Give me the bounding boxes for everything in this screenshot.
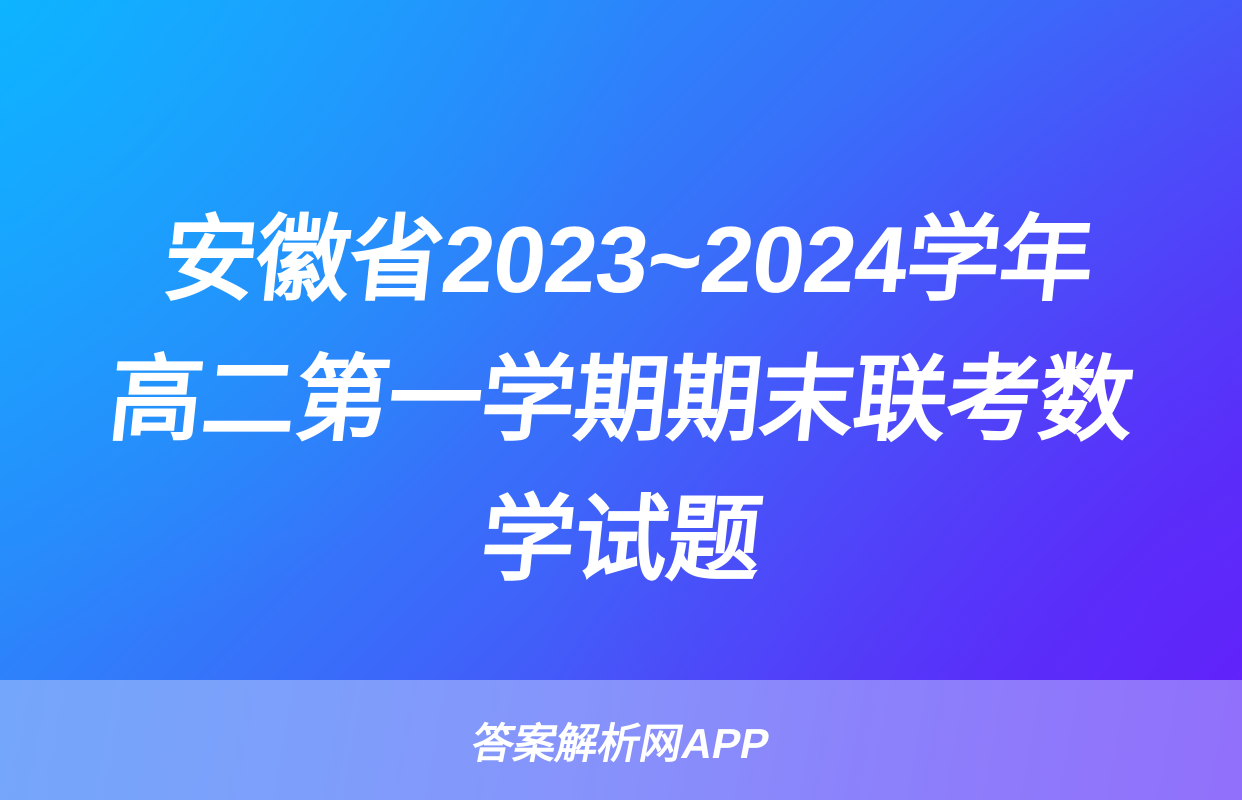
title-line-2: 高二第一学期期末联考数 <box>71 330 1172 470</box>
hero-gradient-background: 安徽省2023~2024学年 高二第一学期期末联考数 学试题 <box>0 0 1242 680</box>
brand-watermark-label: 答案解析网APP <box>467 710 775 771</box>
page-title: 安徽省2023~2024学年 高二第一学期期末联考数 学试题 <box>78 190 1164 610</box>
title-line-1: 安徽省2023~2024学年 <box>71 190 1172 330</box>
footer-brand-bar: 答案解析网APP <box>0 680 1242 800</box>
title-line-3: 学试题 <box>71 470 1172 610</box>
poster-canvas: 安徽省2023~2024学年 高二第一学期期末联考数 学试题 答案解析网APP <box>0 0 1242 800</box>
